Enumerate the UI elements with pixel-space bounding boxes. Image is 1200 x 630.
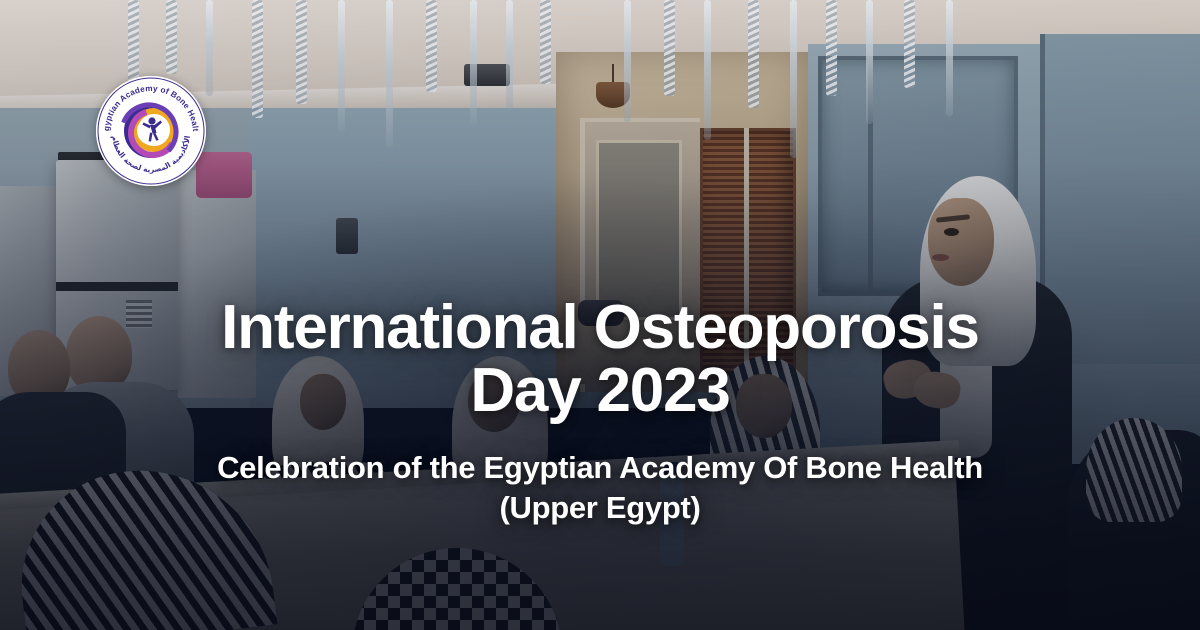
speaker-mouth [932,254,949,261]
speaker-face [928,198,994,286]
wall-fixture [336,218,358,254]
banner-text-block: International Osteoporosis Day 2023 Cele… [0,296,1200,527]
refrigerator-door-gap [56,282,178,291]
speaker-eye [944,228,959,236]
page-subtitle-line-1: Celebration of the Egyptian Academy Of B… [150,448,1050,487]
page-subtitle-line-2: (Upper Egypt) [150,488,1050,527]
event-banner: Egyptian Academy of Bone Health الأكاديم… [0,0,1200,630]
page-title: International Osteoporosis Day 2023 [170,296,1030,422]
egyptian-academy-of-bone-health-logo: Egyptian Academy of Bone Health الأكاديم… [96,76,206,186]
page-subtitle: Celebration of the Egyptian Academy Of B… [150,448,1050,526]
